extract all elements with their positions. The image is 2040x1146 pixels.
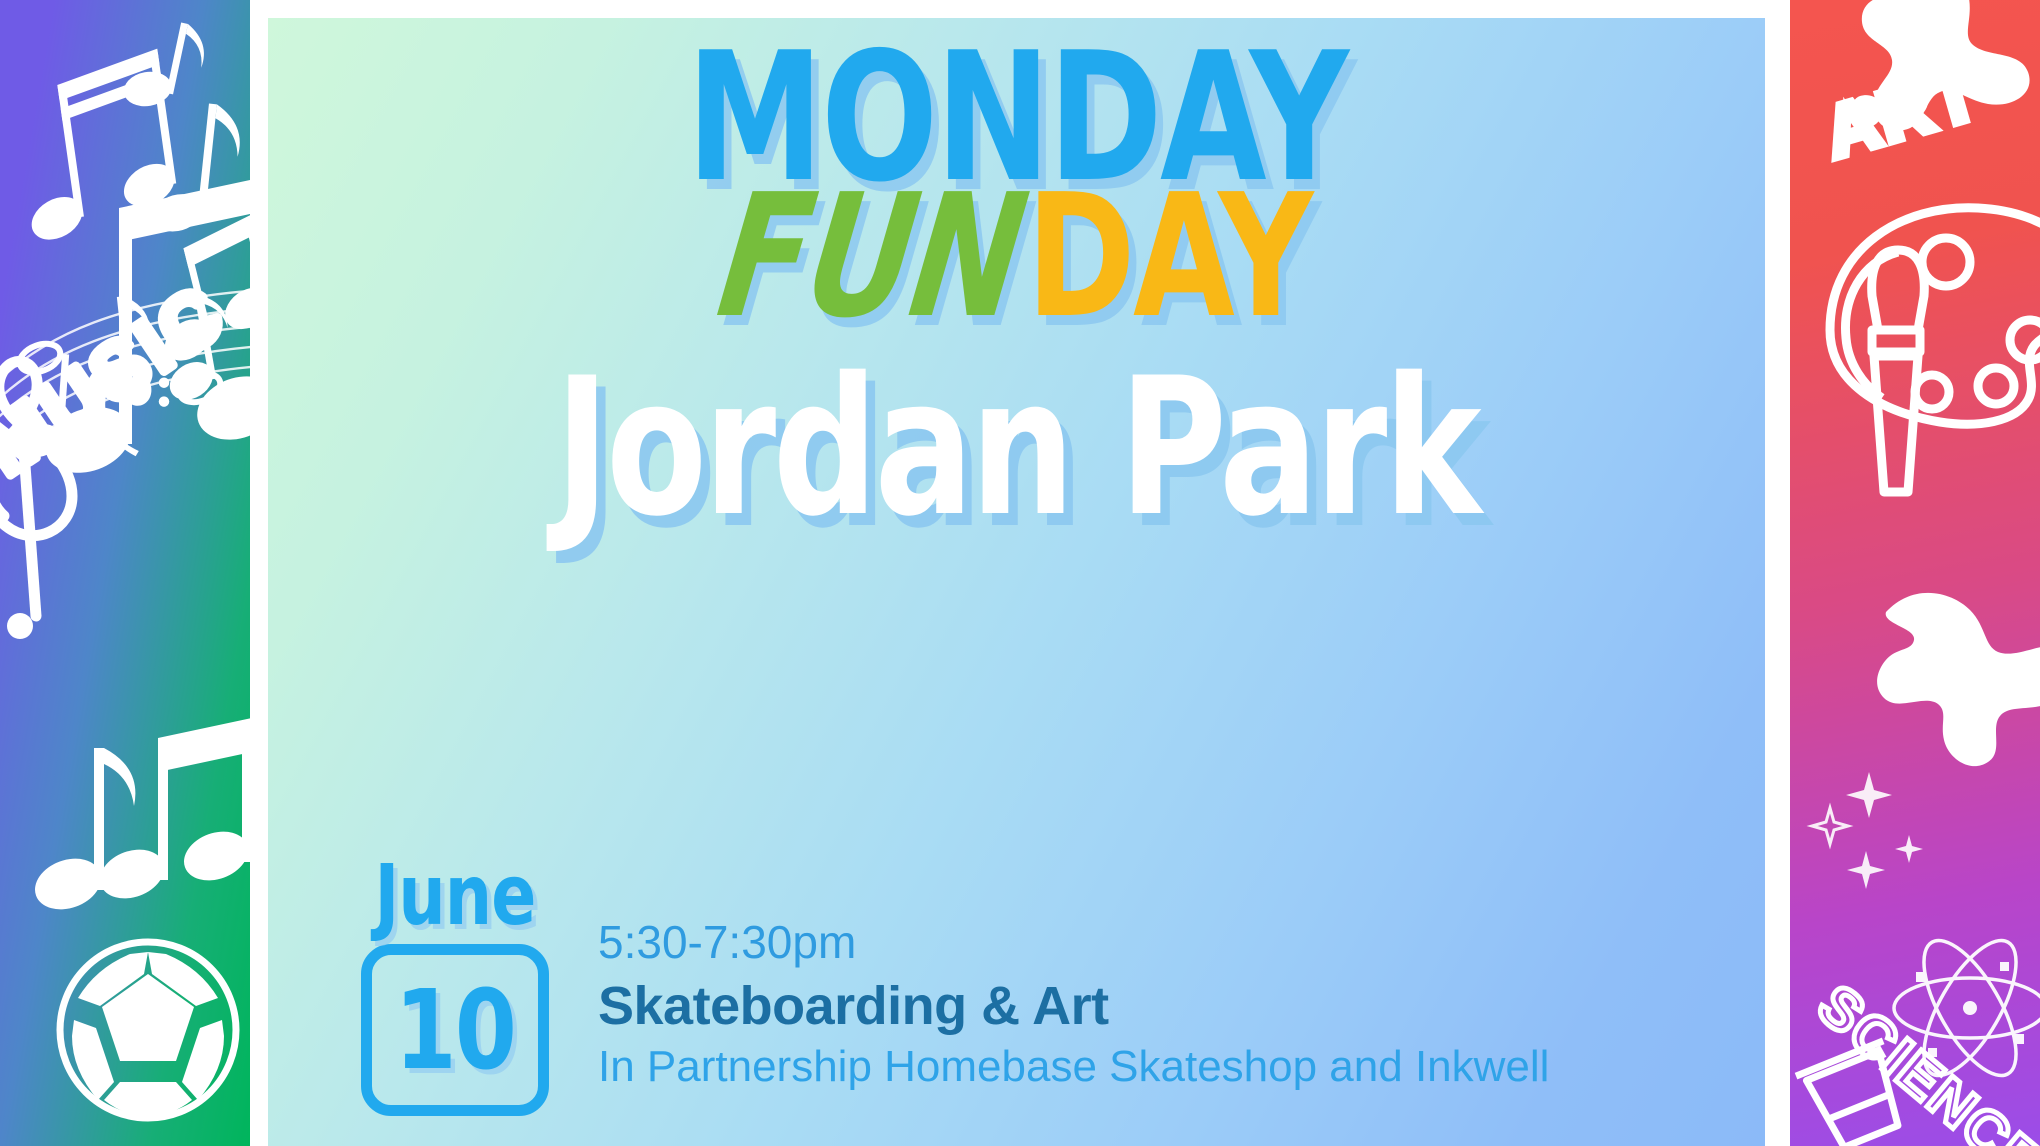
event-partnership: In Partnership Homebase Skateshop and In… [598, 1041, 1549, 1094]
event-details: June 10 5:30-7:30pm Skateboarding & Art … [360, 858, 1549, 1116]
sparkle-icon [1812, 772, 1923, 889]
music-decor-group: MUSIC [0, 0, 250, 1146]
calendar-day-box: 10 [361, 944, 549, 1116]
venue-title: Jordan Park [373, 364, 1660, 531]
beamed-notes-icon [93, 718, 250, 907]
event-day: 10 [395, 975, 515, 1085]
paint-palette-icon [1830, 208, 2040, 424]
headline-day: DAY [1026, 183, 1311, 333]
headline-funday: FUNDAY [373, 183, 1660, 333]
paint-brush-icon [1872, 250, 1925, 492]
date-block: June 10 [360, 858, 550, 1116]
svg-text:ART: ART [1816, 53, 1989, 173]
soccer-ball-icon [60, 942, 236, 1118]
right-rail-art-science: ART [1790, 0, 2040, 1146]
left-rail-music: MUSIC [0, 0, 250, 1146]
event-time: 5:30-7:30pm [598, 914, 1549, 970]
event-text-block: 5:30-7:30pm Skateboarding & Art In Partn… [598, 914, 1549, 1116]
art-science-decor-group: ART [1790, 0, 2040, 1146]
event-month: June [371, 858, 538, 934]
art-label: ART [1816, 53, 1989, 173]
flyer-card: MONDAY FUNDAY Jordan Park June 10 5:30-7… [268, 18, 1765, 1146]
event-activity: Skateboarding & Art [598, 974, 1549, 1039]
headline-block: MONDAY FUNDAY Jordan Park [268, 40, 1765, 531]
event-flyer: MUSIC [0, 0, 2040, 1146]
paint-splat-icon [1877, 593, 2040, 766]
headline-fun: FUN [712, 183, 1031, 333]
